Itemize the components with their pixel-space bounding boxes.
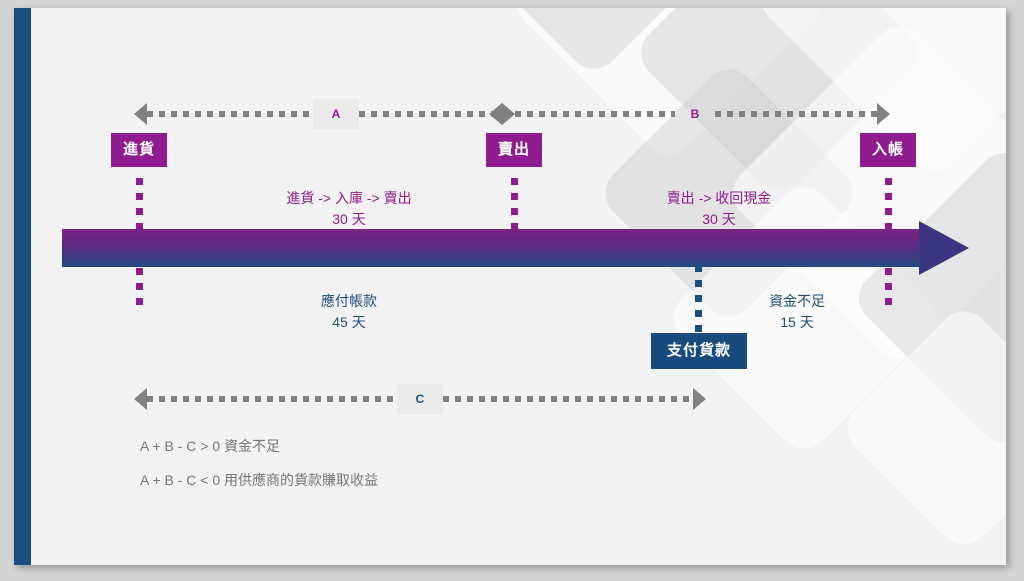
decor-tile xyxy=(453,8,736,79)
segment-b-label: B xyxy=(675,99,715,129)
annotation-inventory-period-title: 進貨 -> 入庫 -> 賣出 xyxy=(259,188,439,209)
bottom-measurement-timeline: C xyxy=(134,388,706,410)
segment-a-rule-left xyxy=(147,111,313,117)
segment-c-right-arrow-icon xyxy=(693,388,706,410)
annotation-inventory-period-value: 30 天 xyxy=(259,209,439,230)
annotation-inventory-period: 進貨 -> 入庫 -> 賣出 30 天 xyxy=(259,188,439,230)
milestone-box-pay-supplier[interactable]: 支付貨款 xyxy=(651,333,747,369)
annotation-payable-period: 應付帳款 45 天 xyxy=(259,291,439,333)
top-measurement-timeline: A B xyxy=(134,103,890,125)
timeline-left-arrow-icon xyxy=(134,103,147,125)
decor-tile xyxy=(837,301,1006,556)
annotation-payable-period-title: 應付帳款 xyxy=(259,291,439,312)
annotation-payable-period-value: 45 天 xyxy=(259,312,439,333)
left-accent-bar xyxy=(14,8,31,565)
segment-c-left-arrow-icon xyxy=(134,388,147,410)
decor-tile xyxy=(506,8,831,166)
annotation-receivable-period: 賣出 -> 收回現金 30 天 xyxy=(629,188,809,230)
main-timeline-arrow xyxy=(62,229,970,267)
segment-c-label: C xyxy=(397,384,443,414)
annotation-funding-gap: 資金不足 15 天 xyxy=(717,291,877,333)
annotation-receivable-period-title: 賣出 -> 收回現金 xyxy=(629,188,809,209)
formula-block: A + B - C > 0 資金不足 A + B - C < 0 用供應商的貨款… xyxy=(140,436,378,504)
milestone-box-receive-payment[interactable]: 入帳 xyxy=(860,133,916,167)
milestone-box-sell[interactable]: 賣出 xyxy=(486,133,542,167)
main-timeline-arrowhead-icon xyxy=(919,221,969,275)
milestone-box-purchase[interactable]: 進貨 xyxy=(111,133,167,167)
slide-canvas: A B 進貨 賣出 入帳 進貨 -> 入庫 -> 賣出 30 天 賣出 -> 收… xyxy=(14,8,1006,565)
segment-c-rule-right xyxy=(443,396,693,402)
formula-surplus: A + B - C < 0 用供應商的貨款賺取收益 xyxy=(140,470,378,490)
annotation-funding-gap-value: 15 天 xyxy=(717,312,877,333)
main-timeline-body xyxy=(62,229,923,267)
timeline-right-arrow-icon xyxy=(877,103,890,125)
segment-a-label: A xyxy=(313,99,359,129)
segment-a-rule-right xyxy=(359,111,502,117)
segment-b-rule-right xyxy=(715,111,877,117)
formula-shortage: A + B - C > 0 資金不足 xyxy=(140,436,378,456)
segment-c-rule-left xyxy=(147,396,397,402)
annotation-receivable-period-value: 30 天 xyxy=(629,209,809,230)
annotation-funding-gap-title: 資金不足 xyxy=(717,291,877,312)
segment-b-rule-left xyxy=(515,111,675,117)
